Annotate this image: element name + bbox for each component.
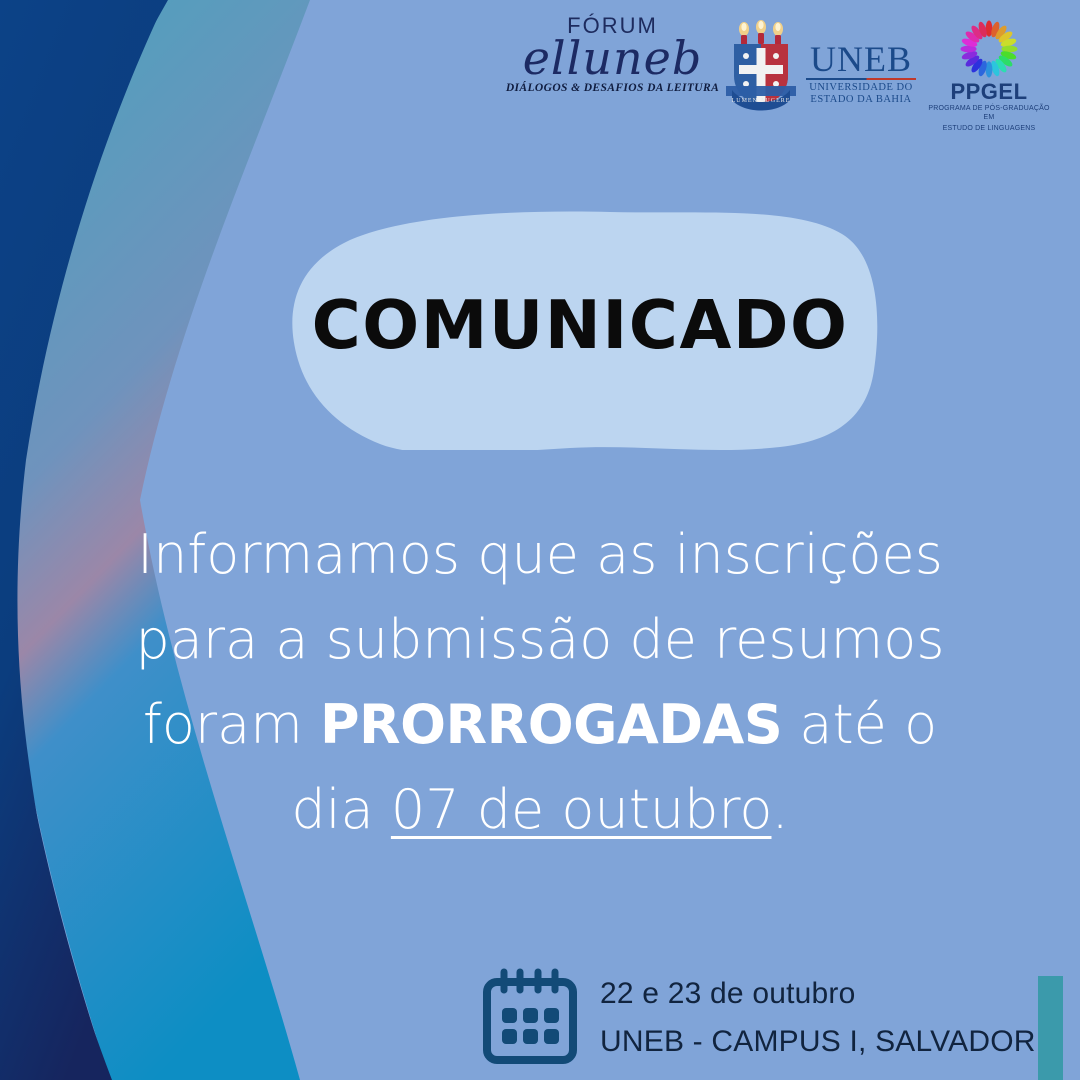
accent-bar bbox=[1038, 976, 1063, 1080]
body-line-4: dia 07 de outubro. bbox=[130, 767, 950, 852]
body-line-4-post: . bbox=[771, 778, 788, 841]
body-line-1: Informamos que as inscrições bbox=[130, 512, 950, 597]
svg-text:LUMEN AUGERE: LUMEN AUGERE bbox=[732, 98, 791, 104]
elluneb-wordmark: elluneb bbox=[505, 35, 720, 81]
uneb-logo: LUMEN AUGERE UNEB UNIVERSIDADE DO ESTADO… bbox=[722, 20, 917, 118]
uneb-acronym: UNEB bbox=[806, 42, 916, 76]
body-line-3-post: até o bbox=[782, 693, 937, 756]
event-dates: 22 e 23 de outubro bbox=[600, 970, 1036, 1018]
uneb-subtitle-line1: UNIVERSIDADE DO bbox=[806, 82, 916, 94]
logo-row: FÓRUM elluneb DIÁLOGOS & DESAFIOS DA LEI… bbox=[0, 8, 1080, 120]
ppgel-subtitle-line1: PROGRAMA DE PÓS-GRADUAÇÃO EM bbox=[928, 105, 1050, 123]
page-title: COMUNICADO bbox=[270, 286, 890, 364]
event-details: 22 e 23 de outubro UNEB - CAMPUS I, SALV… bbox=[600, 970, 1036, 1066]
elluneb-tagline: DIÁLOGOS & DESAFIOS DA LEITURA bbox=[505, 82, 720, 94]
elluneb-logo: FÓRUM elluneb DIÁLOGOS & DESAFIOS DA LEI… bbox=[505, 14, 720, 94]
body-line-2: para a submissão de resumos bbox=[130, 597, 950, 682]
ppgel-logo: PPGEL PROGRAMA DE PÓS-GRADUAÇÃO EM ESTUD… bbox=[928, 18, 1050, 133]
ppgel-ring-icon bbox=[958, 18, 1020, 80]
event-venue: UNEB - CAMPUS I, SALVADOR bbox=[600, 1018, 1036, 1066]
poster-canvas: FÓRUM elluneb DIÁLOGOS & DESAFIOS DA LEI… bbox=[0, 0, 1080, 1080]
uneb-subtitle-line2: ESTADO DA BAHIA bbox=[806, 94, 916, 106]
uneb-shield-icon: LUMEN AUGERE bbox=[722, 20, 800, 116]
body-line-3-emphasis: PRORROGADAS bbox=[320, 693, 782, 756]
ppgel-acronym: PPGEL bbox=[928, 81, 1050, 103]
announcement-body: Informamos que as inscrições para a subm… bbox=[130, 512, 950, 852]
calendar-icon bbox=[482, 968, 578, 1064]
body-line-3-pre: foram bbox=[143, 693, 320, 756]
ppgel-subtitle-line2: ESTUDO DE LINGUAGENS bbox=[928, 125, 1050, 134]
body-line-4-pre: dia bbox=[291, 778, 391, 841]
body-line-3: foram PRORROGADAS até o bbox=[130, 682, 950, 767]
uneb-text-block: UNEB UNIVERSIDADE DO ESTADO DA BAHIA bbox=[806, 42, 916, 106]
event-footer: 22 e 23 de outubro UNEB - CAMPUS I, SALV… bbox=[482, 962, 1042, 1072]
deadline-date: 07 de outubro bbox=[391, 778, 772, 841]
title-area: COMUNICADO bbox=[270, 200, 890, 450]
